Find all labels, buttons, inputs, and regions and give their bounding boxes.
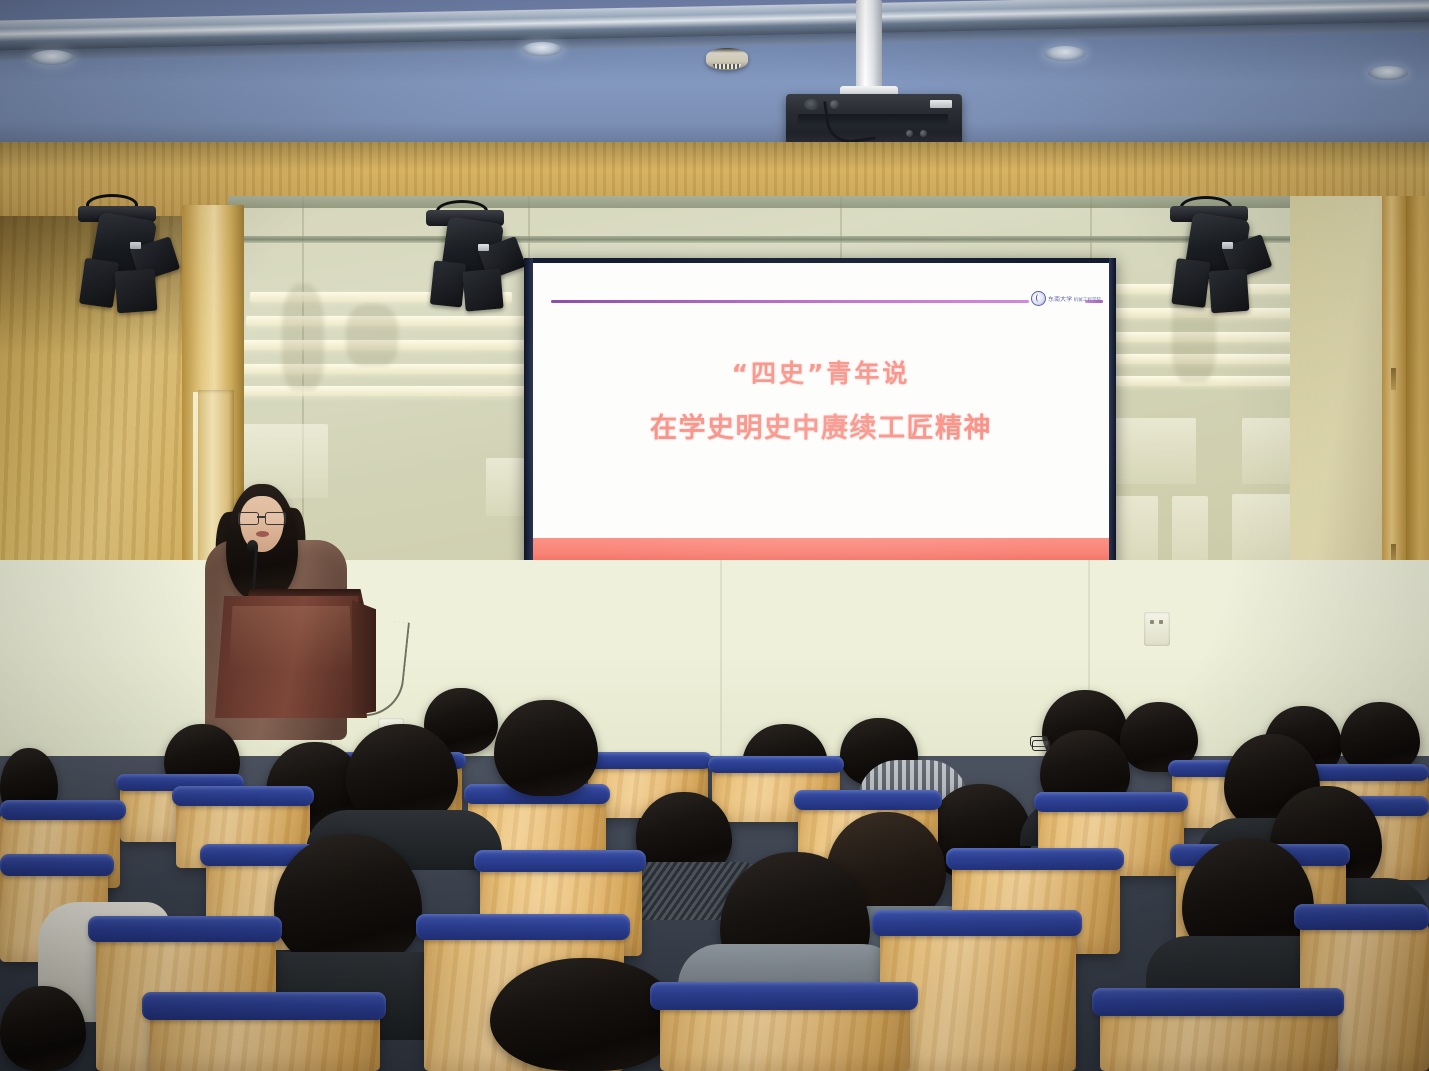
- seat-cushion: [172, 786, 314, 806]
- seat-cushion: [872, 910, 1082, 936]
- projector-vent: [930, 100, 952, 108]
- podium-side-panel: [352, 600, 376, 716]
- seat-cushion: [1092, 988, 1344, 1016]
- projection-screen[interactable]: 东南大学机械工程学院 “四史”青年说 在学史明史中赓续工匠精神: [524, 258, 1116, 586]
- downlight-icon: [522, 42, 562, 56]
- seat-cushion: [1294, 904, 1429, 930]
- university-logo: 东南大学机械工程学院: [1031, 289, 1085, 307]
- lecture-hall-photo: 东南大学机械工程学院 “四史”青年说 在学史明史中赓续工匠精神: [0, 0, 1429, 1071]
- logo-emblem-icon: [1031, 291, 1046, 306]
- seat-cushion: [0, 800, 126, 820]
- slide-title: “四史”青年说 在学史明史中赓续工匠精神: [533, 355, 1109, 450]
- logo-text: 东南大学机械工程学院: [1048, 294, 1101, 303]
- seat-cushion: [650, 982, 918, 1010]
- projector-knob: [920, 130, 927, 137]
- speaker-mouth: [256, 531, 269, 537]
- seat-cushion: [0, 854, 114, 876]
- wall-outlet[interactable]: [1144, 612, 1170, 646]
- screen-right-edge: [1109, 258, 1116, 570]
- audience-head: [0, 986, 86, 1071]
- projector-mount-pole: [856, 0, 882, 96]
- seat-cushion: [142, 992, 386, 1020]
- projector-lens-icon: [804, 99, 820, 110]
- glass-wall-top-frame: [228, 196, 1318, 208]
- seat-cushion: [584, 752, 712, 769]
- projector-knob: [906, 130, 913, 137]
- audience-glasses-icon: [1032, 740, 1050, 751]
- slide-title-line1: “四史”青年说: [533, 355, 1109, 394]
- downlight-icon: [30, 50, 74, 65]
- seat-cushion: [88, 916, 282, 942]
- glass-wall-mullion: [228, 236, 1318, 243]
- downlight-icon: [1044, 46, 1086, 61]
- screen-surface: 东南大学机械工程学院 “四史”青年说 在学史明史中赓续工匠精神: [524, 258, 1116, 570]
- seat-cushion: [1034, 792, 1188, 812]
- slide-title-line2: 在学史明史中赓续工匠精神: [533, 408, 1109, 450]
- audience-head: [490, 958, 680, 1071]
- seat-cushion: [794, 790, 942, 810]
- podium-highlight: [226, 606, 356, 714]
- slide-content: 东南大学机械工程学院 “四史”青年说 在学史明史中赓续工匠精神: [533, 263, 1109, 565]
- audience-head: [274, 834, 422, 970]
- speaker-glasses-icon: [237, 512, 287, 523]
- auditorium-seat[interactable]: [660, 1000, 910, 1071]
- smoke-detector-icon: [706, 48, 748, 70]
- seat-cushion: [708, 756, 844, 773]
- downlight-icon: [1368, 66, 1408, 80]
- screen-left-edge: [524, 258, 533, 570]
- slide-accent-line: [551, 300, 1029, 303]
- seat-cushion: [416, 914, 630, 940]
- audience-head: [494, 700, 598, 796]
- seat-cushion: [946, 848, 1124, 870]
- seat-cushion: [474, 850, 646, 872]
